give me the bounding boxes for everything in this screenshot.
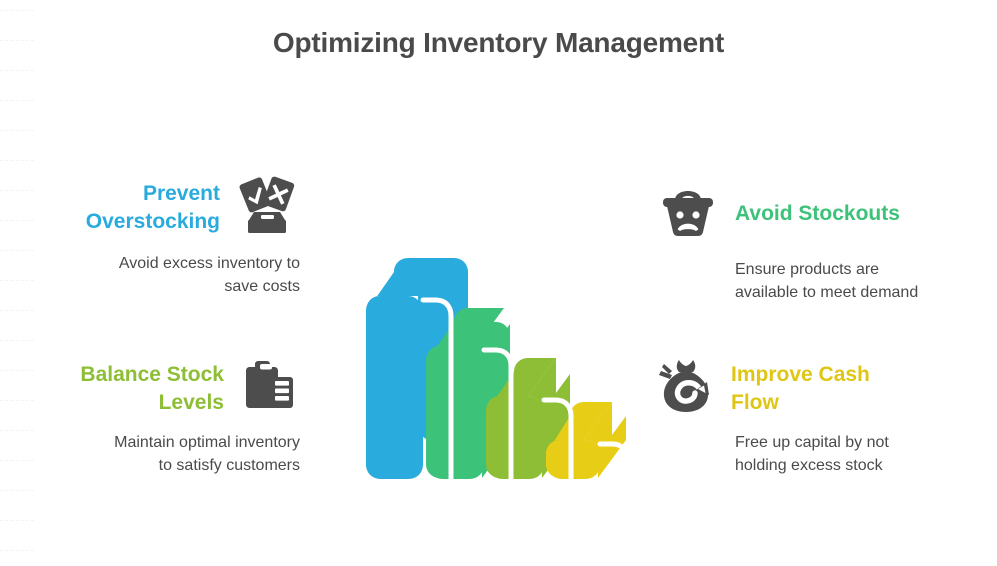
feature-prevent-overstocking: Prevent Overstocking bbox=[40, 172, 300, 298]
feature-balance-stock-levels: Balance Stock Levels bbox=[40, 355, 300, 477]
guide-line bbox=[0, 190, 34, 191]
feature-description: Free up capital by not holding excess st… bbox=[735, 432, 935, 477]
background-guide-lines bbox=[0, 0, 34, 566]
guide-line bbox=[0, 10, 34, 11]
guide-line bbox=[0, 340, 34, 341]
guide-line bbox=[0, 70, 34, 71]
guide-line bbox=[0, 310, 34, 311]
guide-line bbox=[0, 160, 34, 161]
guide-line bbox=[0, 100, 34, 101]
feature-description: Ensure products are available to meet de… bbox=[735, 259, 925, 304]
guide-line bbox=[0, 430, 34, 431]
guide-line bbox=[0, 460, 34, 461]
ballot-box-icon bbox=[234, 172, 300, 243]
feature-title: Prevent Overstocking bbox=[60, 180, 220, 235]
feature-title: Balance Stock Levels bbox=[49, 361, 224, 416]
feature-header: Avoid Stockouts bbox=[655, 178, 945, 249]
feature-description: Avoid excess inventory to save costs bbox=[100, 253, 300, 298]
guide-line bbox=[0, 550, 34, 551]
guide-line bbox=[0, 490, 34, 491]
infographic-canvas: Optimizing Inventory Management Prevent … bbox=[0, 0, 997, 566]
money-bag-refresh-icon bbox=[655, 355, 717, 422]
empty-basket-sad-icon bbox=[655, 178, 721, 249]
clipboard-checklist-icon bbox=[238, 355, 300, 422]
guide-line bbox=[0, 130, 34, 131]
feature-header: Improve Cash Flow bbox=[655, 355, 945, 422]
guide-line bbox=[0, 280, 34, 281]
guide-line bbox=[0, 520, 34, 521]
guide-line bbox=[0, 220, 34, 221]
guide-line bbox=[0, 250, 34, 251]
feature-description: Maintain optimal inventory to satisfy cu… bbox=[100, 432, 300, 477]
feature-improve-cash-flow: Improve Cash Flow Free up capital by not… bbox=[655, 355, 945, 477]
nested-3d-layers-graphic bbox=[350, 200, 635, 480]
feature-title: Improve Cash Flow bbox=[731, 361, 901, 416]
feature-avoid-stockouts: Avoid Stockouts Ensure products are avai… bbox=[655, 178, 945, 304]
page-title: Optimizing Inventory Management bbox=[0, 27, 997, 59]
feature-header: Prevent Overstocking bbox=[40, 172, 300, 243]
feature-header: Balance Stock Levels bbox=[40, 355, 300, 422]
feature-title: Avoid Stockouts bbox=[735, 200, 900, 228]
guide-line bbox=[0, 370, 34, 371]
guide-line bbox=[0, 400, 34, 401]
